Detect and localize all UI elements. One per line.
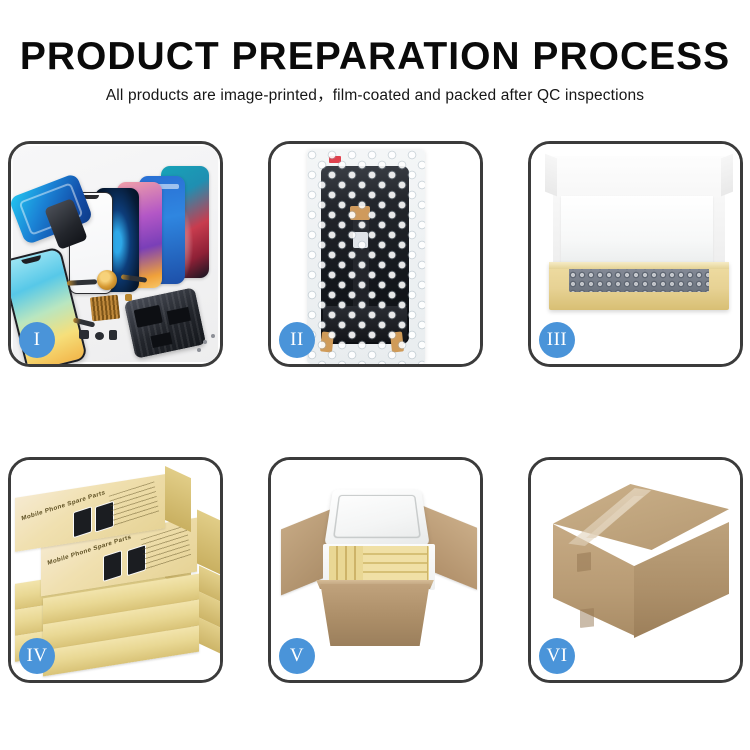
page-title: PRODUCT PREPARATION PROCESS xyxy=(0,0,750,80)
step-badge-1: I xyxy=(19,322,55,358)
box-artwork-screen xyxy=(73,506,92,538)
copper-coil-part xyxy=(97,270,117,290)
box-artwork-screen xyxy=(103,550,122,582)
bubble-texture xyxy=(307,150,425,364)
step-panel-2[interactable]: II xyxy=(268,141,483,367)
page-subtitle: All products are image-printed，film-coat… xyxy=(0,80,750,106)
step-badge-4: IV xyxy=(19,638,55,674)
small-component-4 xyxy=(125,294,132,301)
step-panel-6[interactable]: VI xyxy=(528,457,743,683)
step-panel-1[interactable]: I xyxy=(8,141,223,367)
screw-2 xyxy=(211,334,215,338)
step-badge-6: VI xyxy=(539,638,575,674)
screw-1 xyxy=(203,340,207,344)
bubble-wrap-bag xyxy=(307,150,425,364)
step-badge-5: V xyxy=(279,638,315,674)
box-spec-lines xyxy=(109,481,159,526)
step-panel-3[interactable]: III xyxy=(528,141,743,367)
box-brand-label: Mobile Phone Spare Parts xyxy=(21,489,106,522)
styrofoam-lid xyxy=(324,489,430,545)
screw-3 xyxy=(197,348,201,352)
step-badge-2: II xyxy=(279,322,315,358)
foam-sheet xyxy=(561,196,713,264)
step-badge-3: III xyxy=(539,322,575,358)
carton-marking-upper xyxy=(577,552,591,572)
process-steps-grid: I II xyxy=(8,141,742,683)
carton-marking-lower xyxy=(580,608,594,628)
chip-grid-part xyxy=(90,295,120,322)
step-panel-4[interactable]: Mobile Phone Spare Parts Mobile Phone Sp… xyxy=(8,457,223,683)
small-component-1 xyxy=(79,330,89,339)
box-spec-lines xyxy=(141,525,191,570)
carton-front-wall xyxy=(313,584,437,646)
small-component-3 xyxy=(109,330,117,340)
page-header: PRODUCT PREPARATION PROCESS All products… xyxy=(0,0,750,106)
step-panel-5[interactable]: V xyxy=(268,457,483,683)
box-tray-lip xyxy=(549,262,729,269)
small-component-2 xyxy=(95,332,104,340)
